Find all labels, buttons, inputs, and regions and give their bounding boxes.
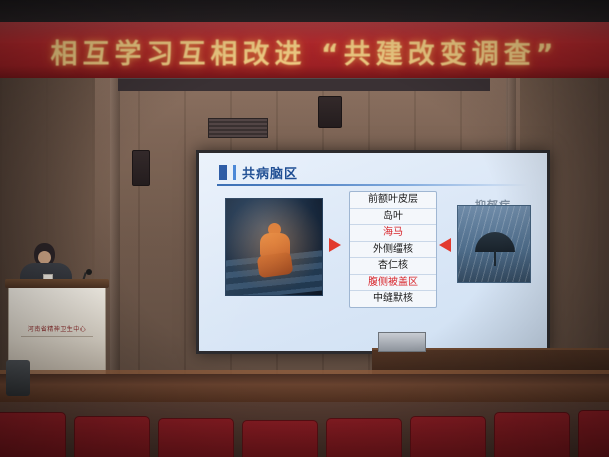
list-item: 前额叶皮层 (350, 192, 436, 209)
list-item: 杏仁核 (350, 258, 436, 275)
arrow-left-red-icon (439, 238, 451, 252)
photo-depression-umbrella (457, 205, 531, 283)
slide-title-row: 共病脑区 (219, 163, 298, 182)
list-item: 外侧缰核 (350, 242, 436, 259)
list-item: 岛叶 (350, 209, 436, 226)
trash-bin (6, 360, 30, 396)
list-item: 腹侧被盖区 (350, 275, 436, 292)
slide-title: 共病脑区 (242, 163, 298, 182)
ceiling-speaker (318, 96, 342, 128)
ceiling-strip (118, 78, 490, 91)
air-vent (208, 118, 268, 138)
stage-floor (0, 374, 609, 404)
podium-text: 河南省精神卫生中心 (9, 324, 105, 333)
banner-text: 相互学习互相改进 “共建改变调查” (0, 30, 609, 72)
list-item: 海马 (350, 225, 436, 242)
laptop (378, 332, 426, 352)
list-item: 中缝默核 (350, 291, 436, 307)
chair (242, 420, 318, 457)
umbrella-stick (494, 250, 496, 266)
arrow-right-red-icon (329, 238, 341, 252)
photo-depressed-person (225, 198, 323, 296)
photo-glow (226, 199, 322, 295)
chair (494, 412, 570, 457)
presentation-slide: 共病脑区 前额叶皮层 岛叶 海马 外侧缰核 杏仁核 (199, 153, 547, 351)
chair (158, 418, 234, 457)
slide-title-underline (217, 184, 527, 186)
podium-top (5, 279, 109, 288)
title-accent-bar-icon (219, 165, 227, 180)
chair (578, 410, 609, 457)
title-accent-bar-secondary-icon (233, 165, 236, 180)
conference-hall-photo: 相互学习互相改进 “共建改变调查” 共病脑区 (0, 0, 609, 457)
podium-divider (21, 336, 93, 337)
wall-pillar-left (110, 78, 120, 378)
chair (326, 418, 402, 457)
projection-screen: 共病脑区 前额叶皮层 岛叶 海马 外侧缰核 杏仁核 (196, 150, 550, 354)
microphone-head (86, 269, 92, 275)
chair (0, 412, 66, 457)
chair (410, 416, 486, 457)
chair (74, 416, 150, 457)
brain-region-list: 前额叶皮层 岛叶 海马 外侧缰核 杏仁核 腹侧被盖区 中缝默核 (349, 191, 437, 308)
wall-speaker (132, 150, 150, 186)
